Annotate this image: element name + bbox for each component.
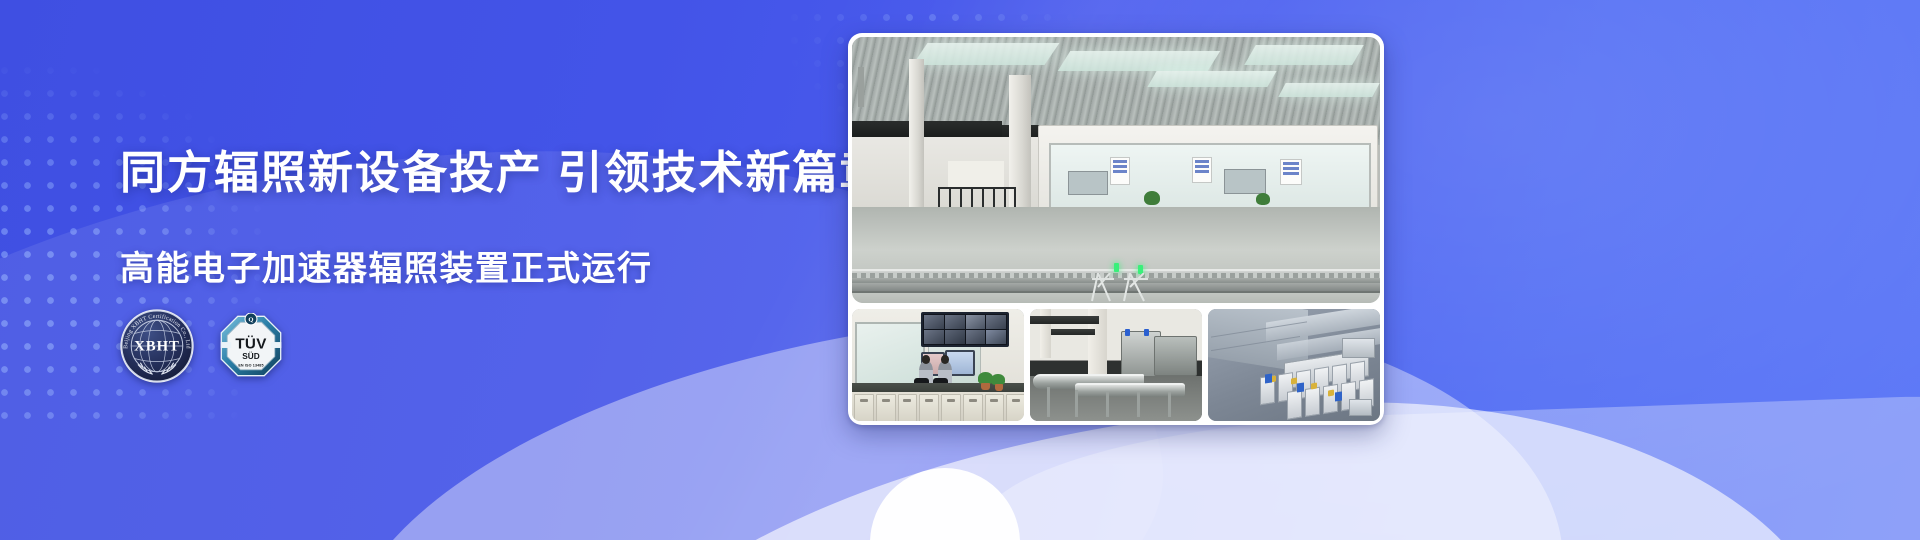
- window-panel: [948, 161, 1004, 187]
- plant-pot: [981, 383, 990, 390]
- skylight: [1147, 71, 1276, 87]
- storage-cabinets: [852, 392, 1024, 421]
- render-accent: [1328, 389, 1334, 396]
- render-indicator: [1265, 373, 1272, 383]
- floor-reflection: [852, 283, 1380, 303]
- notice-board: [1280, 159, 1302, 185]
- render-accent: [1311, 382, 1317, 389]
- promo-banner: 同方辐照新设备投产 引领技术新篇章 高能电子加速器辐照装置正式运行: [0, 0, 1920, 540]
- photo-gallery-card: [848, 33, 1384, 425]
- indicator-light: [1125, 329, 1130, 336]
- conveyor-leg: [1137, 392, 1140, 417]
- conveyor-system-photo[interactable]: [1030, 309, 1202, 421]
- operator-head: [922, 355, 931, 364]
- roof-beam: [852, 121, 1002, 137]
- tuv-sud-logo: Q TÜV SÜD EN ISO 13485: [218, 313, 284, 379]
- monitor: [1224, 169, 1266, 194]
- skylight: [1244, 45, 1364, 65]
- operator-head: [941, 355, 950, 364]
- monitor: [1068, 171, 1108, 195]
- overhead-beam: [1030, 316, 1099, 324]
- skylight: [1278, 83, 1379, 97]
- plant: [1256, 193, 1270, 205]
- headline: 同方辐照新设备投产 引领技术新篇章: [120, 146, 880, 199]
- subheadline: 高能电子加速器辐照装置正式运行: [120, 241, 880, 290]
- render-indicator: [1297, 382, 1304, 392]
- plant: [1144, 191, 1160, 205]
- thumbnail-strip: [852, 309, 1380, 421]
- xbht-mark-text: XBHT: [134, 339, 180, 355]
- notice-board: [1110, 157, 1130, 185]
- conveyor-leg: [1047, 387, 1050, 416]
- render-indicator: [1335, 391, 1342, 401]
- tuv-mark-text: TÜV: [235, 336, 267, 353]
- notice-board: [1192, 157, 1212, 183]
- certification-logos: XBHT Beijing XBHT Certification Co., Ltd: [118, 307, 284, 385]
- skylight: [1058, 51, 1220, 71]
- facility-3d-render[interactable]: [1208, 309, 1380, 421]
- status-indicator: [1114, 263, 1119, 272]
- control-room-photo[interactable]: [852, 309, 1024, 421]
- irradiation-chamber: [1154, 336, 1197, 376]
- overhead-beam: [1051, 329, 1096, 335]
- sud-mark-text: SÜD: [242, 351, 259, 361]
- conveyor-leg: [1106, 392, 1109, 417]
- render-control-panel: [1349, 399, 1372, 417]
- conveyor-leg: [1168, 392, 1171, 417]
- skylight: [913, 43, 1060, 65]
- white-circle-decoration: [870, 468, 1020, 540]
- quality-q-mark: Q: [248, 317, 253, 324]
- cctv-video-wall: [921, 312, 1010, 347]
- xbht-certification-logo: XBHT Beijing XBHT Certification Co., Ltd: [118, 307, 196, 385]
- conveyor-leg: [1075, 390, 1078, 417]
- render-control-panel: [1342, 338, 1375, 358]
- irradiation-hall-photo: [852, 37, 1380, 303]
- plant-pot: [995, 384, 1004, 391]
- pipe: [858, 67, 864, 107]
- indicator-light: [1144, 329, 1149, 336]
- banner-copy: 同方辐照新设备投产 引领技术新篇章 高能电子加速器辐照装置正式运行: [120, 146, 880, 290]
- iso-standard-text: EN ISO 13485: [238, 363, 263, 367]
